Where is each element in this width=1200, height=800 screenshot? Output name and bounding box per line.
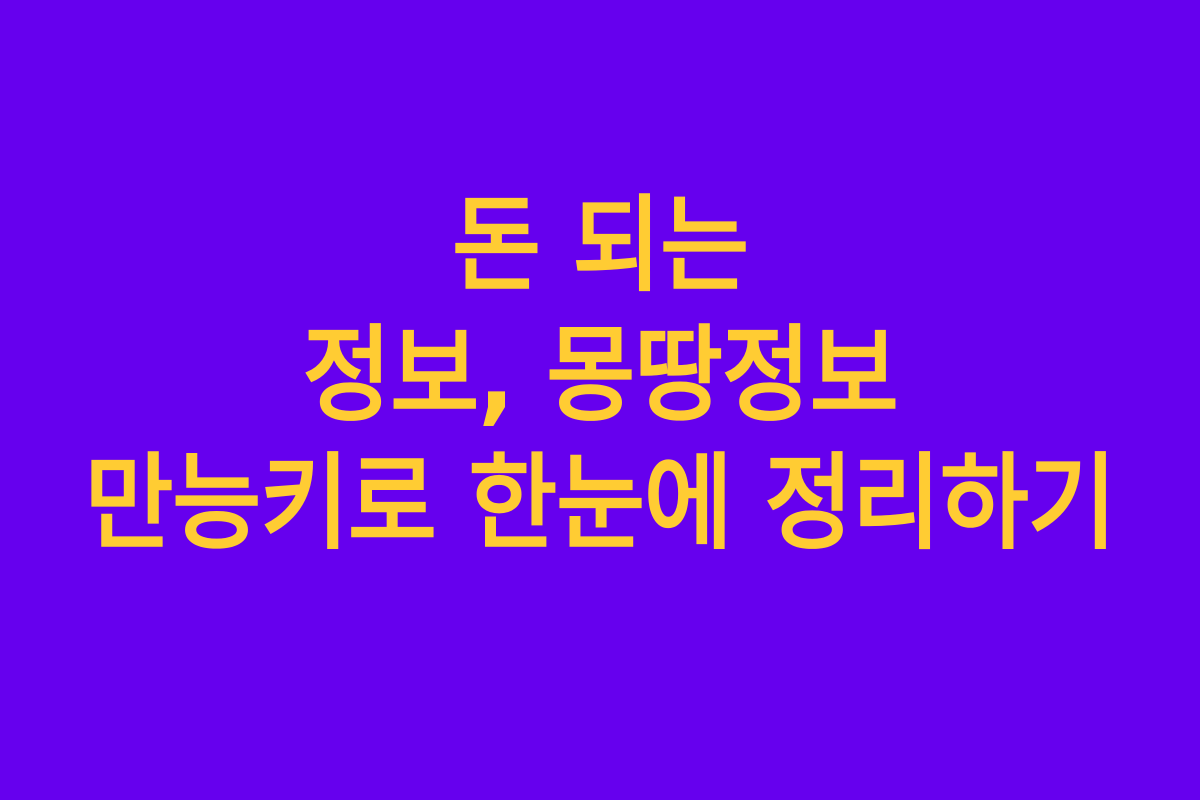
headline-line-1: 돈 되는 — [42, 193, 1158, 297]
headline-line-3: 만능키로 한눈에 정리하기 — [42, 451, 1158, 555]
headline-line-2: 정보, 몽땅정보 — [42, 323, 1158, 427]
headline-block: 돈 되는 정보, 몽땅정보 만능키로 한눈에 정리하기 — [0, 193, 1200, 555]
poster-canvas: 돈 되는 정보, 몽땅정보 만능키로 한눈에 정리하기 — [0, 0, 1200, 800]
